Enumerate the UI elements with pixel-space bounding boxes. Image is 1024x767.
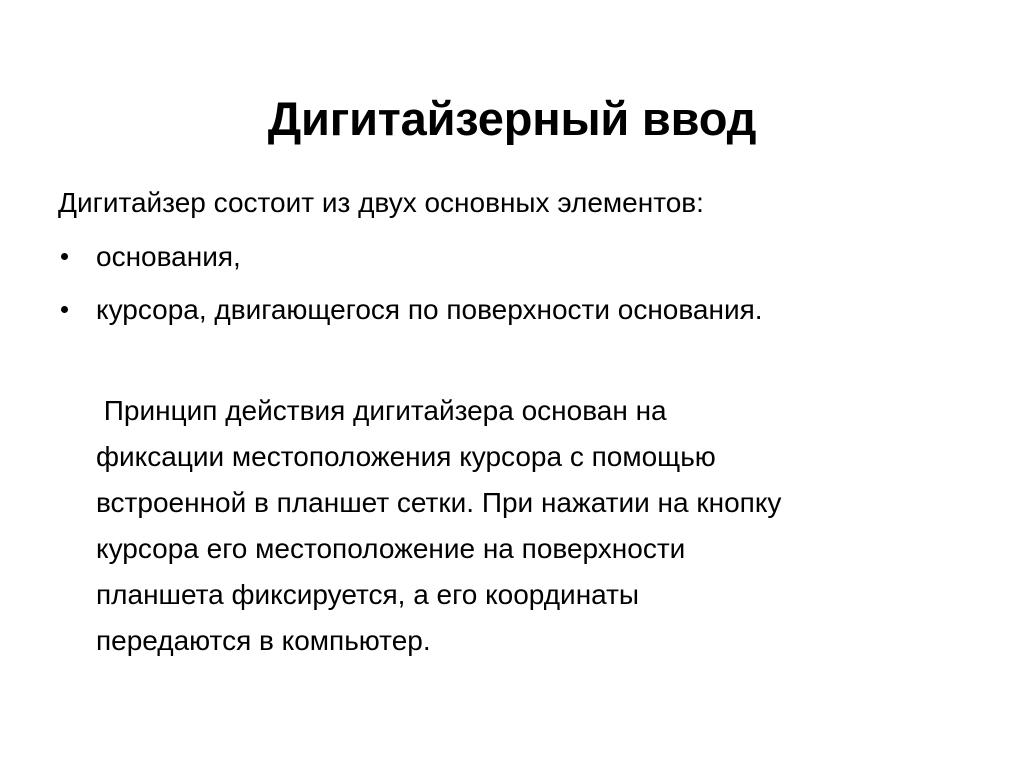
list-item: основания,	[58, 240, 968, 274]
paragraph-line: встроенной в планшет сетки. При нажатии …	[96, 480, 956, 526]
bullet-dot-icon	[61, 306, 68, 313]
body-content: Дигитайзер состоит из двух основных элем…	[58, 186, 968, 327]
paragraph-line: передаются в компьютер.	[96, 618, 956, 664]
paragraph-line: курсора его местоположение на поверхност…	[96, 526, 956, 572]
list-item-label: курсора, двигающегося по поверхности осн…	[96, 294, 763, 325]
intro-text: Дигитайзер состоит из двух основных элем…	[58, 186, 968, 220]
description-paragraph: Принцип действия дигитайзера основан на …	[96, 388, 956, 664]
bullet-list: основания, курсора, двигающегося по пове…	[58, 240, 968, 327]
slide-canvas: Дигитайзерный ввод Дигитайзер состоит из…	[0, 0, 1024, 767]
page-title: Дигитайзерный ввод	[0, 91, 1024, 147]
paragraph-line: Принцип действия дигитайзера основан на	[96, 388, 956, 434]
paragraph-line: фиксации местоположения курсора с помощь…	[96, 434, 956, 480]
list-item: курсора, двигающегося по поверхности осн…	[58, 293, 968, 327]
paragraph-line: планшета фиксируется, а его координаты	[96, 572, 956, 618]
bullet-dot-icon	[61, 253, 68, 260]
list-item-label: основания,	[96, 241, 241, 272]
